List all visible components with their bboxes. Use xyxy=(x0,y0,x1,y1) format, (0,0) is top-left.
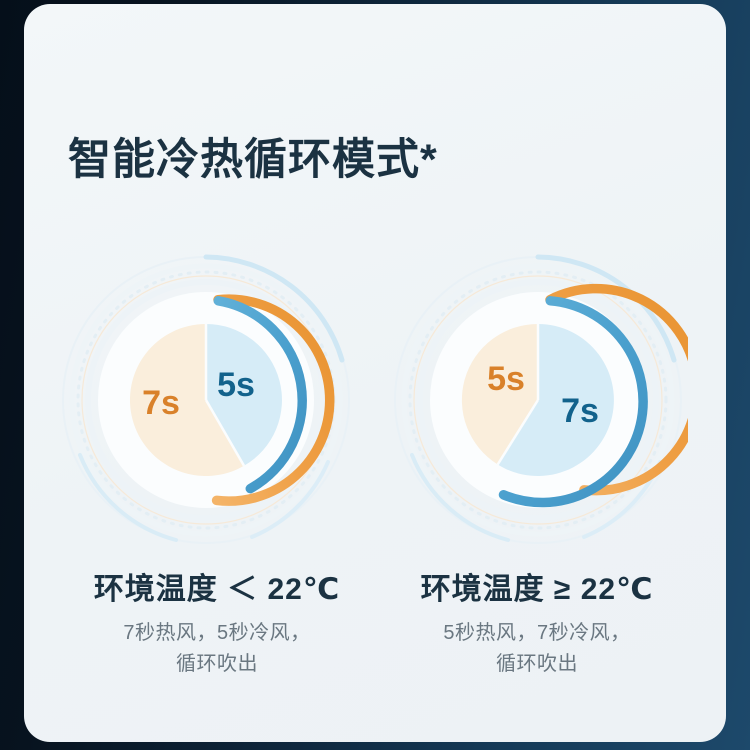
warm-seconds-label: 5s xyxy=(487,360,525,398)
caption-line: 循环吹出 xyxy=(52,649,382,680)
caption-heading: 环境温度 ＜ 22℃ xyxy=(52,564,382,608)
caption-heading: 环境温度 ≥ 22℃ xyxy=(372,564,702,608)
dial-group: 7s 5s xyxy=(24,250,726,550)
content-card: 智能冷热循环模式* xyxy=(24,4,726,742)
dial-warm-ambient-graphic: 5s 7s xyxy=(388,250,688,550)
caption-cold-ambient: 环境温度 ＜ 22℃ 7秒热风，5秒冷风， 循环吹出 xyxy=(52,564,382,680)
page-root: 智能冷热循环模式* xyxy=(0,0,750,750)
warm-seconds-label: 7s xyxy=(142,384,180,422)
caption-line: 5秒热风，7秒冷风， xyxy=(372,618,702,649)
dial-warm-ambient: 5s 7s xyxy=(388,250,688,550)
dial-cold-ambient: 7s 5s xyxy=(56,250,356,550)
cool-seconds-label: 7s xyxy=(561,392,599,430)
caption-line: 7秒热风，5秒冷风， xyxy=(52,618,382,649)
caption-line: 循环吹出 xyxy=(372,649,702,680)
caption-warm-ambient: 环境温度 ≥ 22℃ 5秒热风，7秒冷风， 循环吹出 xyxy=(372,564,702,680)
page-title: 智能冷热循环模式* xyxy=(68,136,438,185)
caption-description: 7秒热风，5秒冷风， 循环吹出 xyxy=(52,618,382,680)
caption-group: 环境温度 ＜ 22℃ 7秒热风，5秒冷风， 循环吹出 环境温度 ≥ 22℃ 5秒… xyxy=(24,564,726,714)
dial-cold-ambient-graphic: 7s 5s xyxy=(56,250,356,550)
cool-seconds-label: 5s xyxy=(217,366,255,404)
caption-description: 5秒热风，7秒冷风， 循环吹出 xyxy=(372,618,702,680)
